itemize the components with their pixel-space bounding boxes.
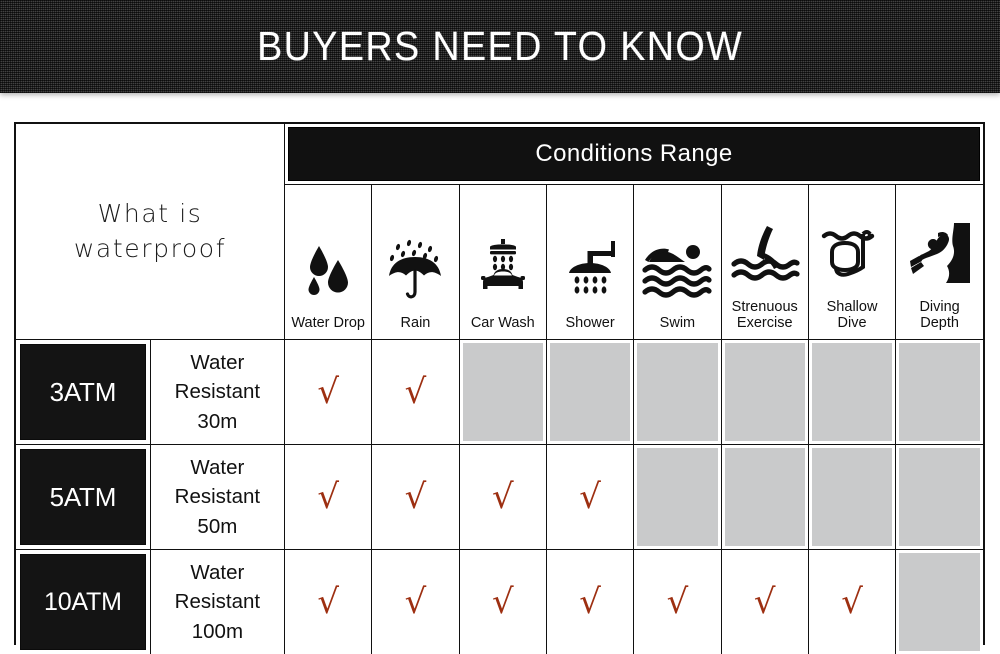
check-icon: √ [579, 480, 601, 514]
blocked-cell [637, 448, 717, 546]
status-badge: 10ATM [20, 554, 146, 650]
blocked-cell [725, 343, 805, 441]
description-cell-10atm: Water Resistant 100m [150, 550, 284, 654]
label-line1: Shower [566, 315, 615, 331]
blocked-cell [899, 553, 980, 651]
cell-3atm-shallow-dive [808, 340, 895, 445]
cell-5atm-shower: √ [546, 445, 633, 550]
column-header-diving-depth: Diving Depth [896, 185, 983, 340]
check-icon: √ [492, 585, 514, 619]
swimmer-icon [641, 231, 713, 309]
shower-icon [559, 231, 621, 309]
corner-title: What is waterproof [16, 197, 284, 266]
label-line1: Rain [401, 315, 431, 331]
label-line2: Dive [827, 315, 878, 331]
rating-cell-10atm: 10ATM [16, 550, 150, 654]
blocked-cell [812, 448, 892, 546]
scuba-diver-icon [906, 215, 974, 293]
column-header-label: Car Wash [471, 315, 535, 331]
description-line2: 30m [157, 407, 278, 436]
rating-cell-3atm: 3ATM [16, 340, 150, 445]
label-line1: Water Drop [291, 315, 365, 331]
label-line1: Diving [919, 299, 959, 315]
check-icon: √ [317, 375, 339, 409]
cell-3atm-diving-depth [896, 340, 983, 445]
cell-3atm-car-wash [459, 340, 546, 445]
status-badge: 5ATM [20, 449, 146, 545]
cell-5atm-rain: √ [372, 445, 459, 550]
page-title: BUYERS NEED TO KNOW [257, 23, 743, 70]
table-row: 5ATM Water Resistant 50m √ √ √ [16, 445, 983, 550]
description-line2: 50m [157, 512, 278, 541]
snorkel-mask-icon [818, 215, 886, 293]
description-cell-5atm: Water Resistant 50m [150, 445, 284, 550]
column-header-shallow-dive: Shallow Dive [808, 185, 895, 340]
cell-3atm-strenuous-exercise [721, 340, 808, 445]
table-row: 10ATM Water Resistant 100m √ √ √ [16, 550, 983, 654]
cell-10atm-rain: √ [372, 550, 459, 654]
table-row: 3ATM Water Resistant 30m √ √ [16, 340, 983, 445]
blocked-cell [463, 343, 543, 441]
description-line1: Water Resistant [157, 453, 278, 511]
cell-5atm-strenuous-exercise [721, 445, 808, 550]
blocked-cell [899, 448, 980, 546]
umbrella-rain-icon [384, 231, 446, 309]
description-line2: 100m [157, 617, 278, 646]
check-icon: √ [667, 585, 689, 619]
label-line2: Depth [919, 315, 959, 331]
check-icon: √ [317, 585, 339, 619]
water-drop-icon [301, 231, 355, 309]
corner-title-line2: waterproof [26, 232, 274, 267]
column-header-label: Shower [566, 315, 615, 331]
blocked-cell [899, 343, 980, 441]
description-line1: Water Resistant [157, 558, 278, 616]
cell-10atm-shower: √ [546, 550, 633, 654]
blocked-cell [637, 343, 717, 441]
description-cell-3atm: Water Resistant 30m [150, 340, 284, 445]
column-header-label: Diving Depth [919, 299, 959, 331]
cell-3atm-water-drop: √ [285, 340, 372, 445]
column-header-swim: Swim [634, 185, 721, 340]
cell-10atm-water-drop: √ [285, 550, 372, 654]
column-header-label: Water Drop [291, 315, 365, 331]
cell-5atm-swim [634, 445, 721, 550]
page-banner: BUYERS NEED TO KNOW [0, 0, 1000, 93]
row-description: Water Resistant 50m [151, 453, 284, 540]
cell-5atm-water-drop: √ [285, 445, 372, 550]
waterproof-table: What is waterproof Conditions Range [14, 122, 985, 645]
label-line1: Shallow [827, 299, 878, 315]
blocked-cell [812, 343, 892, 441]
cell-10atm-shallow-dive: √ [808, 550, 895, 654]
column-header-label: Shallow Dive [827, 299, 878, 331]
check-icon: √ [405, 480, 427, 514]
check-icon: √ [317, 480, 339, 514]
check-icon: √ [405, 585, 427, 619]
cell-10atm-strenuous-exercise: √ [721, 550, 808, 654]
corner-title-line1: What is [26, 197, 274, 232]
column-header-car-wash: Car Wash [459, 185, 546, 340]
blocked-cell [550, 343, 630, 441]
cell-5atm-car-wash: √ [459, 445, 546, 550]
rating-cell-5atm: 5ATM [16, 445, 150, 550]
column-header-rain: Rain [372, 185, 459, 340]
row-description: Water Resistant 100m [151, 558, 284, 645]
row-description: Water Resistant 30m [151, 348, 284, 435]
corner-title-cell: What is waterproof [16, 124, 285, 340]
check-icon: √ [492, 480, 514, 514]
cell-3atm-shower [546, 340, 633, 445]
diving-swimmer-icon [730, 215, 800, 293]
column-header-label: Strenuous Exercise [732, 299, 798, 331]
cell-3atm-swim [634, 340, 721, 445]
cell-10atm-swim: √ [634, 550, 721, 654]
cell-5atm-diving-depth [896, 445, 983, 550]
column-header-water-drop: Water Drop [285, 185, 372, 340]
status-badge: 3ATM [20, 344, 146, 440]
car-wash-icon [472, 231, 534, 309]
cell-10atm-diving-depth [896, 550, 983, 654]
check-icon: √ [579, 585, 601, 619]
description-line1: Water Resistant [157, 348, 278, 406]
label-line1: Swim [660, 315, 695, 331]
cell-3atm-rain: √ [372, 340, 459, 445]
infographic-page: BUYERS NEED TO KNOW What is waterproof C… [0, 0, 1000, 650]
conditions-range-cell: Conditions Range [285, 124, 984, 185]
column-header-strenuous-exercise: Strenuous Exercise [721, 185, 808, 340]
table-header-row-group: What is waterproof Conditions Range [16, 124, 983, 185]
column-header-shower: Shower [546, 185, 633, 340]
label-line1: Car Wash [471, 315, 535, 331]
cell-10atm-car-wash: √ [459, 550, 546, 654]
label-line1: Strenuous [732, 299, 798, 315]
conditions-range-label: Conditions Range [288, 127, 980, 181]
blocked-cell [725, 448, 805, 546]
column-header-label: Swim [660, 315, 695, 331]
column-header-label: Rain [401, 315, 431, 331]
check-icon: √ [405, 375, 427, 409]
label-line2: Exercise [732, 315, 798, 331]
cell-5atm-shallow-dive [808, 445, 895, 550]
check-icon: √ [841, 585, 863, 619]
check-icon: √ [754, 585, 776, 619]
